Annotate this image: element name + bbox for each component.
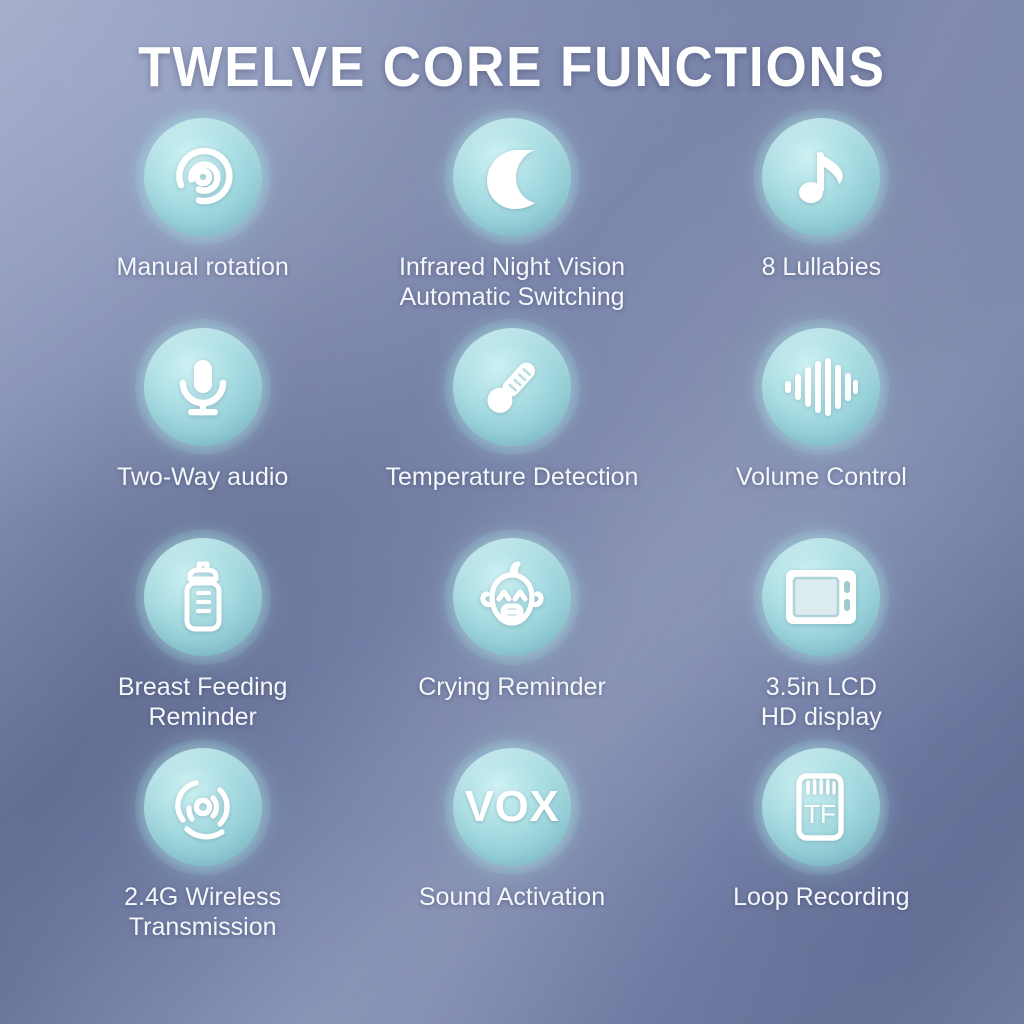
page-title: TWELVE CORE FUNCTIONS [36,34,988,100]
feature-icon-badge [453,328,571,446]
feature-label: Two-Way audio [48,462,357,492]
feature-item-night-vision[interactable]: Infrared Night Vision Automatic Switchin… [357,118,666,328]
feature-icon-badge [762,118,880,236]
feature-item-crying-reminder[interactable]: Crying Reminder [357,538,666,748]
feature-item-loop-recording[interactable]: TF Loop Recording [667,748,976,958]
lcd-monitor-icon [783,567,859,627]
feature-item-wireless[interactable]: 2.4G Wireless Transmission [48,748,357,958]
feature-item-temperature[interactable]: Temperature Detection [357,328,666,538]
feature-item-volume-control[interactable]: Volume Control [667,328,976,538]
feature-label: Crying Reminder [357,672,666,702]
feature-label: Temperature Detection [357,462,666,492]
poster-content: TWELVE CORE FUNCTIONS Manual rotation [0,0,1024,1024]
feature-item-lullabies[interactable]: 8 Lullabies [667,118,976,328]
feature-grid: Manual rotation Infrared Night Vision Au… [48,118,976,958]
microphone-icon [168,352,238,422]
feature-icon-badge [144,118,262,236]
feature-icon-badge [144,328,262,446]
feature-icon-badge [762,538,880,656]
feature-icon-badge: TF [762,748,880,866]
feature-icon-badge [453,538,571,656]
feature-label: 2.4G Wireless Transmission [48,882,357,942]
feature-label: Loop Recording [667,882,976,912]
feature-icon-badge [144,748,262,866]
feature-item-feeding-reminder[interactable]: Breast Feeding Reminder [48,538,357,748]
baby-bottle-icon [171,561,235,633]
feature-label: 3.5in LCD HD display [667,672,976,732]
feature-label: Breast Feeding Reminder [48,672,357,732]
feature-label: Sound Activation [357,882,666,912]
feature-icon-badge [144,538,262,656]
feature-label: 8 Lullabies [667,252,976,282]
feature-icon-badge [762,328,880,446]
feature-item-lcd-display[interactable]: 3.5in LCD HD display [667,538,976,748]
thermometer-icon [476,351,548,423]
music-note-icon [786,142,856,212]
feature-icon-badge [453,118,571,236]
tf-card-icon: TF [789,771,853,843]
vox-text-icon: VOX [465,782,559,832]
feature-label: Infrared Night Vision Automatic Switchin… [357,252,666,312]
feature-item-two-way-audio[interactable]: Two-Way audio [48,328,357,538]
moon-star-icon [475,140,549,214]
feature-label: Volume Control [667,462,976,492]
rotation-spiral-icon [167,141,239,213]
tf-card-label: TF [804,799,836,829]
waveform-icon [783,356,859,418]
feature-item-sound-activation[interactable]: VOX Sound Activation [357,748,666,958]
wireless-signal-icon [166,770,240,844]
baby-face-crying-icon [474,561,550,633]
feature-poster: TWELVE CORE FUNCTIONS Manual rotation [0,0,1024,1024]
feature-label: Manual rotation [48,252,357,282]
feature-icon-badge: VOX [453,748,571,866]
feature-item-manual-rotation[interactable]: Manual rotation [48,118,357,328]
